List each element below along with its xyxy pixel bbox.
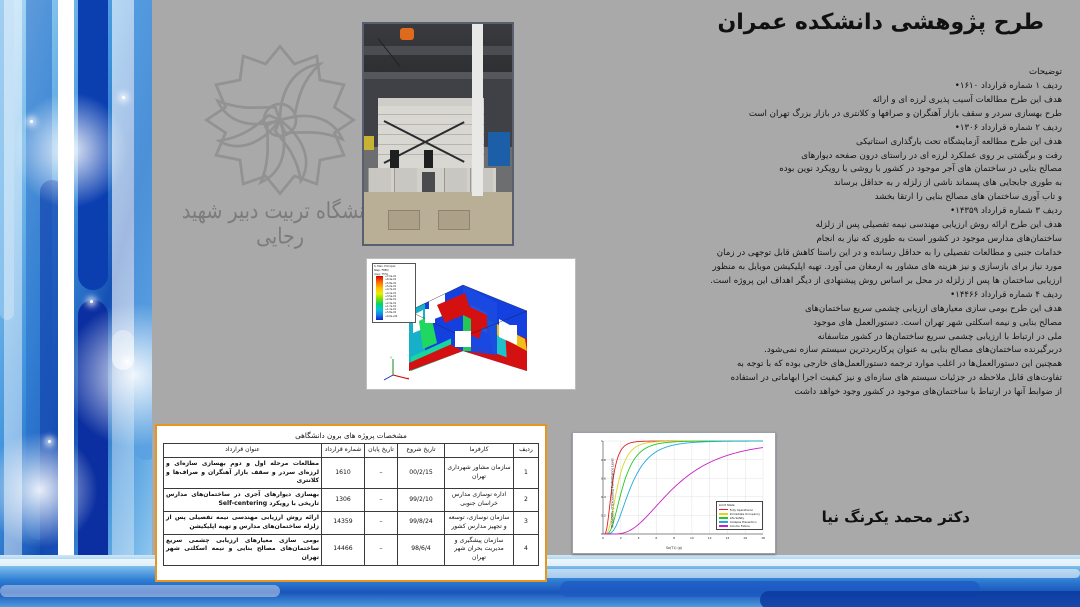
description-heading: توضیحات (632, 66, 1062, 80)
table-row: 4سازمان پیشگیری و مدیریت بحران شهر تهران… (164, 534, 539, 565)
fragility-curve-chart: Probability of Exceeding Performance Lev… (572, 432, 776, 554)
description-line: ملی در ارتباط با ارزیابی چشمی سریع ساختم… (632, 331, 1062, 345)
cell-subject: بومی سازی معیارهای ارزیابی چشمی سریع ساخ… (164, 534, 322, 565)
description-line: هدف این طرح مطالعات آسیب پذیری لرزه ای و… (632, 94, 1062, 108)
svg-text:0: 0 (601, 532, 603, 536)
fem-axis-triad-icon: y x z (383, 355, 413, 381)
description-line: به طوری جابجایی های پسماند ناشی از زلزله… (632, 177, 1062, 191)
table-row: 3سازمان نوسازی، توسعه و تجهیز مدارس کشور… (164, 511, 539, 534)
cell-row: 4 (514, 534, 539, 565)
description-line: ردیف ۲ شماره قرارداد ۱۳۰۶• (632, 122, 1062, 136)
legend-color-swatch (719, 525, 728, 526)
legend-color-swatch (719, 513, 728, 514)
cell-client: اداره نوسازی مدارس خراسان جنوبی (445, 489, 514, 512)
description-block: توضیحات ردیف ۱ شماره قرارداد ۱۶۱۰•هدف ای… (632, 66, 1062, 400)
description-line: ارزیابی ساختمان ها پس از زلزله در محل بر… (632, 275, 1062, 289)
projects-table: ردیف کارفرما تاریخ شروع تاریخ پایان شمار… (163, 443, 539, 566)
svg-text:18: 18 (761, 536, 765, 540)
chart-legend-title: Limit State (719, 503, 760, 507)
cell-subject: مطالعات مرحله اول و دوم بهسازی سازه‌ای و… (164, 457, 322, 488)
description-line: مصالح بنایی و نیمه اسکلتی شهر تهران است.… (632, 317, 1062, 331)
cell-start: 00/2/15 (398, 457, 445, 488)
chart-y-axis-label: Probability of Exceeding Performance Lev… (611, 458, 615, 527)
svg-text:1: 1 (601, 439, 603, 443)
svg-text:8: 8 (673, 536, 675, 540)
cell-subject: بهسازی دیوارهای آجری در ساختمان‌های مدار… (164, 489, 322, 512)
presentation-slide: طرح پژوهشی دانشکده عمران دانشگاه تربیت د… (0, 0, 1080, 607)
th-number: شماره قرارداد (322, 444, 365, 458)
svg-text:0.6: 0.6 (601, 476, 606, 480)
th-start: تاریخ شروع (398, 444, 445, 458)
cell-subject: ارائه روش ارزیابی مهندسی نیمه تفصیلی پس … (164, 511, 322, 534)
legend-color-swatch (719, 521, 728, 522)
description-line: ردیف ۳ شماره قرارداد ۱۴۳۵۹• (632, 205, 1062, 219)
cell-number: 1306 (322, 489, 365, 512)
cell-client: سازمان مشاور شهرداری تهران (445, 457, 514, 488)
svg-text:0.2: 0.2 (601, 514, 606, 518)
svg-text:y: y (390, 355, 392, 359)
description-line: دربرگیرنده ساختمان‌های مصالح بنایی به عن… (632, 344, 1062, 358)
th-row: ردیف (514, 444, 539, 458)
description-line: و تاب آوری ساختمان های مصالح بنایی را ار… (632, 191, 1062, 205)
cell-end: – (365, 457, 398, 488)
fem-colorbar-ticks: +7.0e-01+6.4e-01+5.8e-01+5.2e-01 +4.7e-0… (385, 275, 397, 318)
legend-color-swatch (719, 509, 728, 510)
table-row: 1سازمان مشاور شهرداری تهران00/2/15–1610م… (164, 457, 539, 488)
description-line: همچنین این دستورالعمل‌ها در اغلب موارد ت… (632, 358, 1062, 372)
cell-end: – (365, 511, 398, 534)
svg-text:6: 6 (655, 536, 657, 540)
description-line: طرح بهسازی سردر و سقف بازار آهنگران و صر… (632, 108, 1062, 122)
gear-star-emblem-icon (200, 40, 360, 200)
cell-number: 14359 (322, 511, 365, 534)
svg-text:10: 10 (690, 536, 694, 540)
cell-client: سازمان پیشگیری و مدیریت بحران شهر تهران (445, 534, 514, 565)
legend-color-swatch (719, 517, 728, 518)
svg-text:0.4: 0.4 (601, 495, 606, 499)
svg-text:0.8: 0.8 (601, 458, 606, 462)
table-row: 2اداره نوسازی مدارس خراسان جنوبی99/2/10–… (164, 489, 539, 512)
description-line: هدف این طرح مطالعه آزمایشگاه تحت بارگذار… (632, 136, 1062, 150)
svg-text:2: 2 (620, 536, 622, 540)
svg-text:12: 12 (708, 536, 712, 540)
svg-text:16: 16 (743, 536, 747, 540)
left-decorative-band (0, 0, 152, 607)
cell-end: – (365, 489, 398, 512)
masonry-wall-lab-test-photo (362, 22, 514, 246)
chart-legend: Limit State Fully OperationalImmediate O… (716, 501, 763, 530)
cell-start: 98/6/4 (398, 534, 445, 565)
projects-table-panel: مشخصات پروژه های برون دانشگاهی ردیف کارف… (155, 424, 547, 582)
description-line: ردیف ۱ شماره قرارداد ۱۶۱۰• (632, 80, 1062, 94)
description-line: ساختمان‌های مدارس موجود در کشور است به ط… (632, 233, 1062, 247)
description-line: خدامات جنبی و مطالعات تفصیلی را به حداقل… (632, 247, 1062, 261)
th-end: تاریخ پایان (365, 444, 398, 458)
cell-client: سازمان نوسازی، توسعه و تجهیز مدارس کشور (445, 511, 514, 534)
description-lines: ردیف ۱ شماره قرارداد ۱۶۱۰•هدف این طرح مط… (632, 80, 1062, 400)
projects-table-title: مشخصات پروژه های برون دانشگاهی (163, 431, 539, 440)
svg-text:x: x (407, 376, 409, 380)
th-client: کارفرما (445, 444, 514, 458)
cell-row: 2 (514, 489, 539, 512)
description-line: تفاوت‌های قابل ملاحظه در جزئیات سیستم ها… (632, 372, 1062, 386)
legend-label: Column Failure (730, 524, 750, 528)
page-title: طرح پژوهشی دانشکده عمران (717, 10, 1044, 35)
svg-text:4: 4 (638, 536, 640, 540)
fem-legend: S, Max. Principal Step: FREQ (Avg: 75%) … (372, 263, 416, 323)
cell-row: 3 (514, 511, 539, 534)
presenter-name: دکتر محمد یکرنگ نیا (822, 508, 970, 526)
description-line: هدف این طرح ارائه روش ارزیابی مهندسی نیم… (632, 219, 1062, 233)
cell-end: – (365, 534, 398, 565)
chart-legend-item: Column Failure (719, 524, 760, 528)
svg-text:14: 14 (726, 536, 730, 540)
svg-text:0: 0 (602, 536, 604, 540)
description-line: مصالح بنایی در ساختمان های آجر موجود در … (632, 163, 1062, 177)
description-line: مورد نیاز برای بازسازی و نیز هزینه های م… (632, 261, 1062, 275)
chart-x-axis-label: Sa(T1) (g) (577, 546, 771, 550)
cell-row: 1 (514, 457, 539, 488)
description-line: هدف این طرح بومی سازی معیارهای ارزیابی چ… (632, 303, 1062, 317)
table-header-row: ردیف کارفرما تاریخ شروع تاریخ پایان شمار… (164, 444, 539, 458)
cell-number: 14466 (322, 534, 365, 565)
description-line: ردیف ۴ شماره قرارداد ۱۴۴۶۶• (632, 289, 1062, 303)
logo-text: دانشگاه تربیت دبیر شهید رجایی (180, 199, 380, 250)
description-line: رفت و برگشتی بر روی عملکرد لرزه ای در را… (632, 150, 1062, 164)
university-logo: دانشگاه تربیت دبیر شهید رجایی (180, 40, 380, 250)
abaqus-fem-stress-contour: S, Max. Principal Step: FREQ (Avg: 75%) … (366, 258, 576, 390)
cell-number: 1610 (322, 457, 365, 488)
cell-start: 99/8/24 (398, 511, 445, 534)
description-line: از ضوابط آنها در ارتباط با ساختمان‌های م… (632, 386, 1062, 400)
th-subject: عنوان قرارداد (164, 444, 322, 458)
fem-colorbar (376, 276, 383, 320)
cell-start: 99/2/10 (398, 489, 445, 512)
